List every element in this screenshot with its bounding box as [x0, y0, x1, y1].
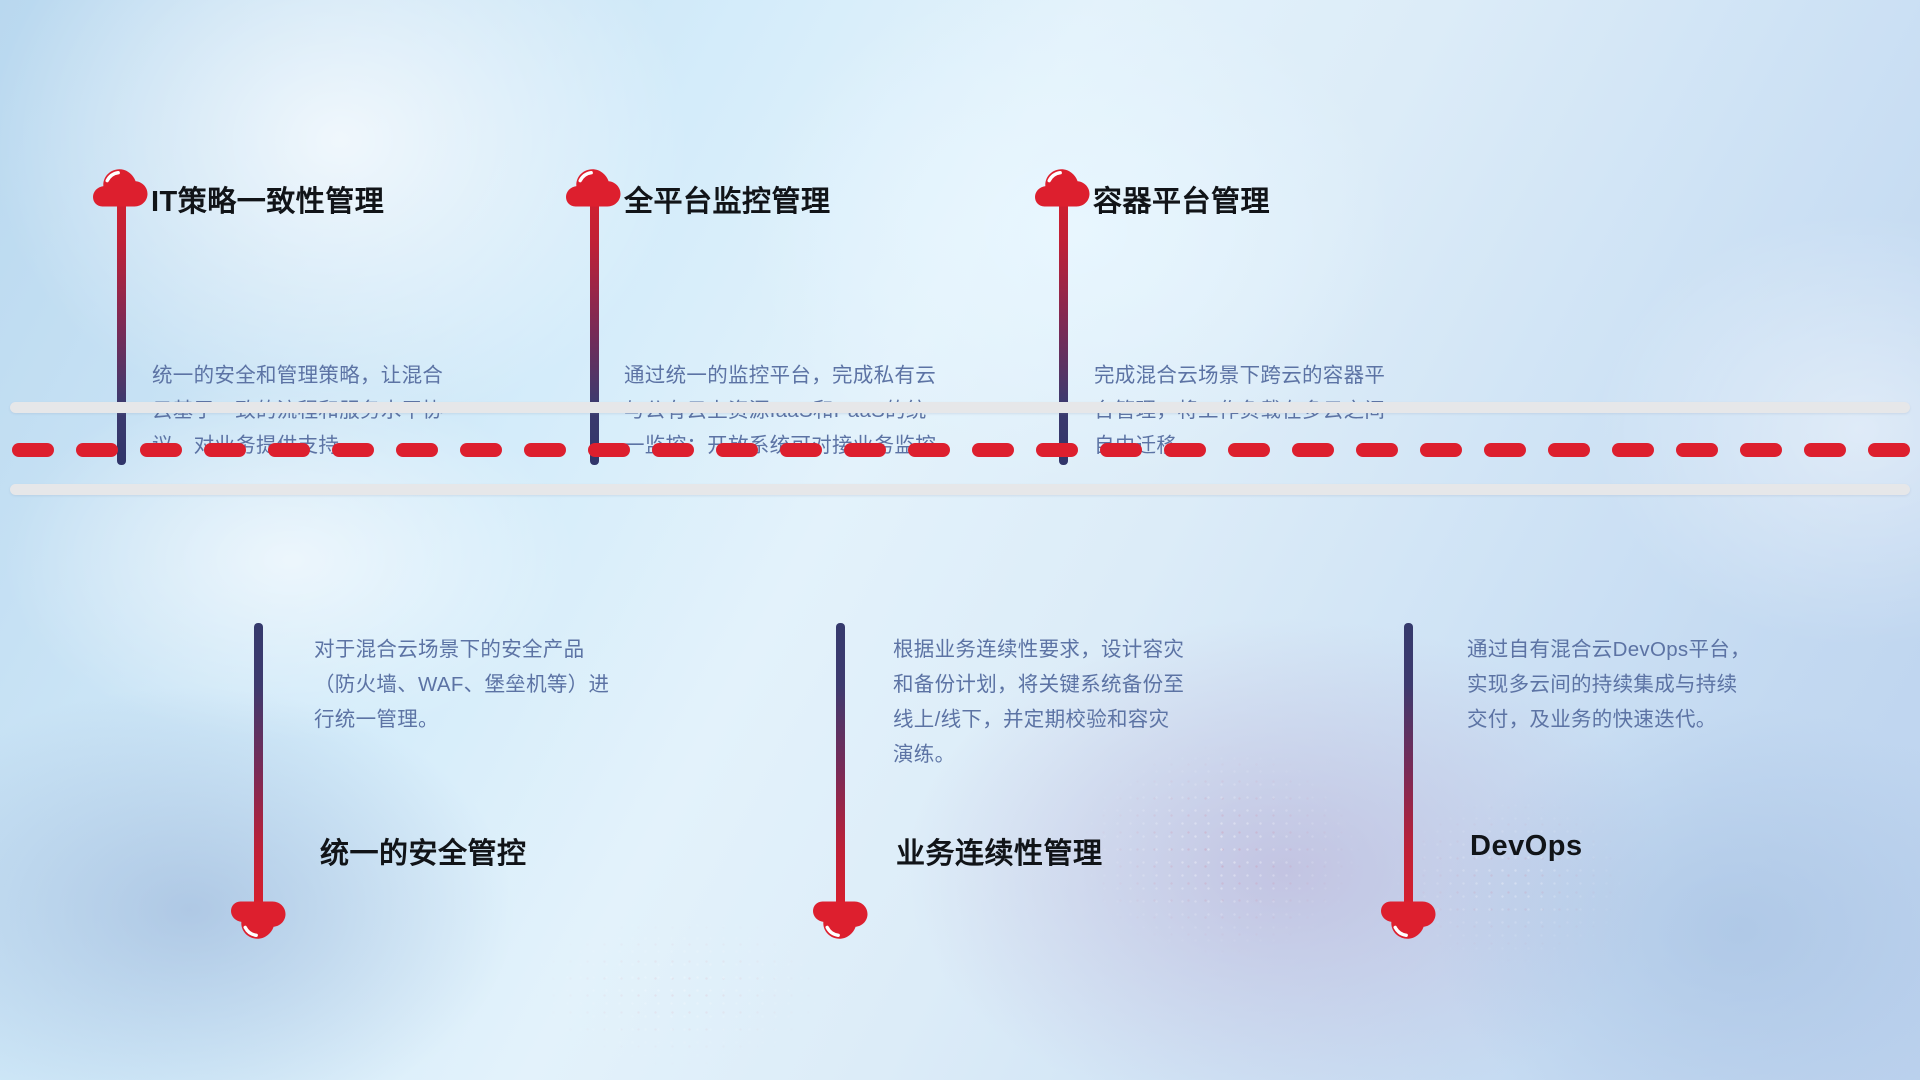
- road-dash-segment: [332, 443, 374, 457]
- road-rail-bottom: [10, 484, 1910, 495]
- cloud-icon: [809, 900, 873, 948]
- road-dash-segment: [588, 443, 630, 457]
- road-dash-segment: [908, 443, 950, 457]
- road-dash-segment: [524, 443, 566, 457]
- stem-line: [1059, 180, 1068, 465]
- road-dash-segment: [1484, 443, 1526, 457]
- card-body: 根据业务连续性要求，设计容灾 和备份计划，将关键系统备份至 线上/线下，并定期校…: [893, 632, 1288, 772]
- stem-line: [117, 180, 126, 465]
- background-glow-upper-left: [0, 0, 840, 560]
- road-dash-segment: [1356, 443, 1398, 457]
- card-title: IT策略一致性管理: [151, 178, 384, 220]
- road-dash-segment: [780, 443, 822, 457]
- stem-line: [1404, 623, 1413, 908]
- road-dash-segment: [1740, 443, 1782, 457]
- road-dash-segment: [460, 443, 502, 457]
- road-dash-segment: [1036, 443, 1078, 457]
- road-dash-segment: [76, 443, 118, 457]
- stem-line: [590, 180, 599, 465]
- card-title: 业务连续性管理: [896, 830, 1103, 872]
- road-dash-segment: [1868, 443, 1910, 457]
- road-dash-segment: [12, 443, 54, 457]
- card-body: 对于混合云场景下的安全产品 （防火墙、WAF、堡垒机等）进 行统一管理。: [314, 632, 709, 737]
- road-dash-segment: [1420, 443, 1462, 457]
- card-title: 统一的安全管控: [320, 830, 527, 872]
- cloud-icon: [89, 160, 153, 208]
- road-dash-segment: [204, 443, 246, 457]
- road-dash-segment: [1164, 443, 1206, 457]
- card-title: 全平台监控管理: [624, 178, 831, 220]
- road-dash-segment: [1804, 443, 1846, 457]
- road-rail-top: [10, 402, 1910, 413]
- road-dash-segment: [1612, 443, 1654, 457]
- road-dash-segment: [1228, 443, 1270, 457]
- cloud-icon: [1031, 160, 1095, 208]
- road-dash-segment: [396, 443, 438, 457]
- card-title: 容器平台管理: [1093, 178, 1270, 220]
- card-title: DevOps: [1470, 830, 1583, 863]
- stem-line: [254, 623, 263, 908]
- road-dash-segment: [140, 443, 182, 457]
- road-dash-segment: [844, 443, 886, 457]
- road-dash-segment: [1676, 443, 1718, 457]
- road-dash-segment: [972, 443, 1014, 457]
- cloud-icon: [1377, 900, 1441, 948]
- cloud-icon: [562, 160, 626, 208]
- road-dashed-centerline: [0, 443, 1920, 457]
- stem-line: [836, 623, 845, 908]
- card-body: 通过自有混合云DevOps平台， 实现多云间的持续集成与持续 交付，及业务的快速…: [1467, 632, 1862, 737]
- road-dash-segment: [716, 443, 758, 457]
- cloud-icon: [227, 900, 291, 948]
- road-dash-segment: [652, 443, 694, 457]
- road-dash-segment: [1292, 443, 1334, 457]
- infographic-canvas: IT策略一致性管理 统一的安全和管理策略，让混合 云基于一致的流程和服务水平协 …: [0, 0, 1920, 1080]
- road-dash-segment: [268, 443, 310, 457]
- road-dash-segment: [1548, 443, 1590, 457]
- particle-texture: [1340, 760, 1680, 1000]
- background-glow-lavender: [760, 520, 1810, 1080]
- road-dash-segment: [1100, 443, 1142, 457]
